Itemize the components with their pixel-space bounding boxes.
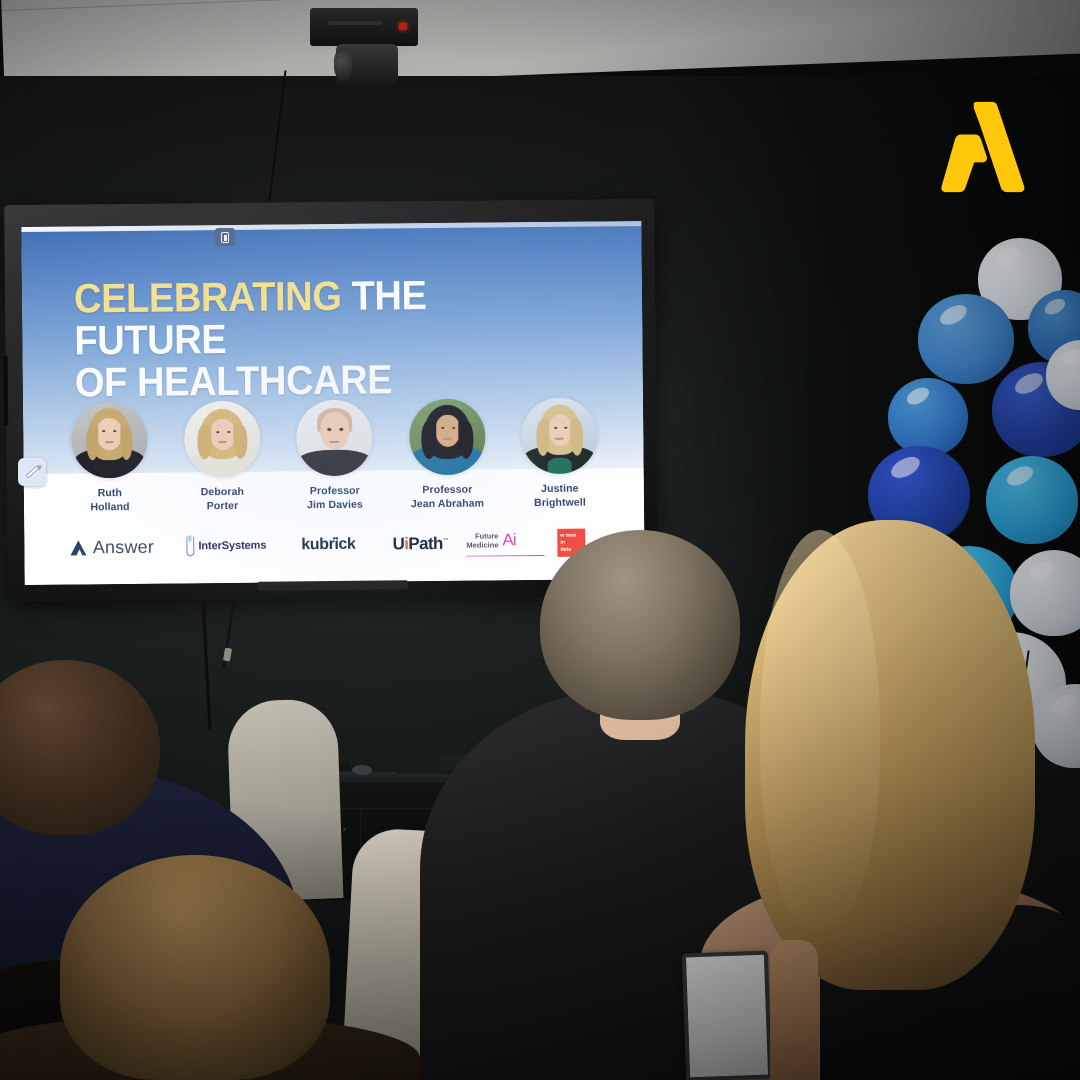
speaker-row: Ruth Holland bbox=[57, 397, 612, 515]
logo-answer: Answer bbox=[54, 532, 170, 563]
logo-future-medicine-ai: Future Medicine Ai bbox=[466, 528, 552, 559]
logo-intersystems: InterSystems bbox=[170, 530, 282, 561]
speaker-name-line1: Professor bbox=[310, 485, 360, 497]
answer-digital-logo-icon bbox=[932, 96, 1028, 196]
ceiling-camera-mount bbox=[310, 8, 418, 46]
speaker-name: Ruth Holland bbox=[90, 487, 129, 515]
speaker-name-line2: Holland bbox=[90, 501, 129, 513]
speaker-name-line1: Deborah bbox=[201, 486, 244, 498]
logo-kubrick-label: kubrick bbox=[301, 536, 355, 554]
fm-line2: Medicine bbox=[466, 540, 498, 549]
camera-vent bbox=[328, 21, 382, 25]
wid-line1: w men bbox=[560, 534, 576, 539]
sponsor-logo-row: Answer InterSystems kubrick •• UiPath™ bbox=[54, 527, 614, 562]
speaker-card: Justine Brightwell bbox=[507, 397, 612, 511]
speaker-card: Professor Jim Davies bbox=[282, 399, 387, 513]
speaker-name-line2: Brightwell bbox=[534, 496, 586, 508]
annotate-pencil-button[interactable] bbox=[18, 458, 46, 486]
wid-line3: data bbox=[560, 548, 571, 553]
avatar bbox=[184, 401, 261, 478]
avatar bbox=[296, 400, 373, 477]
computer-mouse[interactable] bbox=[352, 765, 372, 775]
wid-line2: in bbox=[560, 541, 565, 546]
speaker-name-line2: Jean Abraham bbox=[411, 497, 484, 510]
fm-underline bbox=[466, 555, 544, 557]
speaker-name: Justine Brightwell bbox=[534, 483, 586, 511]
kubrick-umlaut-icon: •• bbox=[333, 534, 339, 543]
wall-display[interactable]: CELEBRATING THE FUTURE OF HEALTHCARE bbox=[4, 199, 658, 601]
attendee-hair-highlight bbox=[760, 530, 880, 930]
future-medicine-row: Future Medicine Ai bbox=[466, 530, 515, 550]
slide-title: CELEBRATING THE FUTURE OF HEALTHCARE bbox=[74, 274, 577, 404]
uipath-u: U bbox=[392, 534, 404, 553]
speaker-name: Deborah Porter bbox=[201, 486, 245, 514]
avatar bbox=[408, 399, 485, 476]
balloon-white bbox=[1010, 550, 1080, 636]
credenza-knob[interactable] bbox=[343, 828, 346, 831]
avatar bbox=[71, 402, 148, 479]
camera-lens-icon bbox=[334, 48, 352, 80]
presentation-handle-icon[interactable] bbox=[215, 228, 235, 246]
logo-uipath: UiPath™ bbox=[374, 529, 466, 560]
speaker-card: Deborah Porter bbox=[170, 401, 275, 515]
presentation-slide: CELEBRATING THE FUTURE OF HEALTHCARE bbox=[21, 221, 644, 585]
answer-mark-icon bbox=[71, 540, 88, 555]
speaker-card: Ruth Holland bbox=[57, 402, 162, 516]
photo-scene: CELEBRATING THE FUTURE OF HEALTHCARE bbox=[0, 0, 1080, 1080]
speaker-name-line2: Jim Davies bbox=[307, 499, 363, 512]
balloon-cyan bbox=[986, 456, 1078, 544]
speaker-name: Professor Jean Abraham bbox=[411, 484, 484, 512]
speaker-name-line1: Justine bbox=[541, 483, 579, 495]
logo-kubrick: kubrick •• bbox=[282, 530, 374, 561]
balloon-blue bbox=[888, 378, 968, 456]
handle-glyph bbox=[221, 232, 229, 243]
logo-intersystems-text: InterSystems bbox=[198, 540, 266, 553]
future-medicine-words: Future Medicine bbox=[466, 531, 498, 549]
pencil-icon bbox=[25, 465, 39, 478]
open-laptop[interactable] bbox=[682, 951, 772, 1080]
fm-line1: Future bbox=[475, 531, 498, 540]
ceiling-seam bbox=[2, 0, 1080, 11]
display-side-port bbox=[4, 355, 9, 425]
slide-title-highlight: CELEBRATING bbox=[74, 273, 342, 322]
speaker-name-line1: Professor bbox=[422, 484, 472, 496]
logo-answer-text: Answer bbox=[93, 536, 154, 558]
uipath-trademark: ™ bbox=[443, 538, 448, 544]
intersystems-mark-icon bbox=[186, 536, 194, 556]
balloon-blue bbox=[918, 294, 1014, 384]
camera-status-led bbox=[399, 23, 407, 30]
logo-kubrick-text: kubrick •• bbox=[301, 536, 355, 555]
display-ir-sensor bbox=[258, 580, 408, 590]
fm-ai-mark: Ai bbox=[502, 530, 515, 550]
speaker-name-line2: Porter bbox=[207, 500, 239, 512]
display-panel[interactable]: CELEBRATING THE FUTURE OF HEALTHCARE bbox=[21, 221, 644, 585]
speaker-name-line1: Ruth bbox=[98, 487, 122, 499]
attendee-head bbox=[540, 530, 740, 720]
logo-uipath-text: UiPath™ bbox=[392, 534, 448, 555]
attendee-head bbox=[60, 855, 330, 1080]
speaker-card: Professor Jean Abraham bbox=[394, 398, 499, 512]
speaker-name: Professor Jim Davies bbox=[307, 485, 363, 513]
avatar bbox=[521, 397, 598, 474]
slide-title-line2: OF HEALTHCARE bbox=[75, 356, 393, 405]
uipath-path: Path bbox=[408, 534, 443, 553]
attendee-arm bbox=[770, 940, 818, 1080]
